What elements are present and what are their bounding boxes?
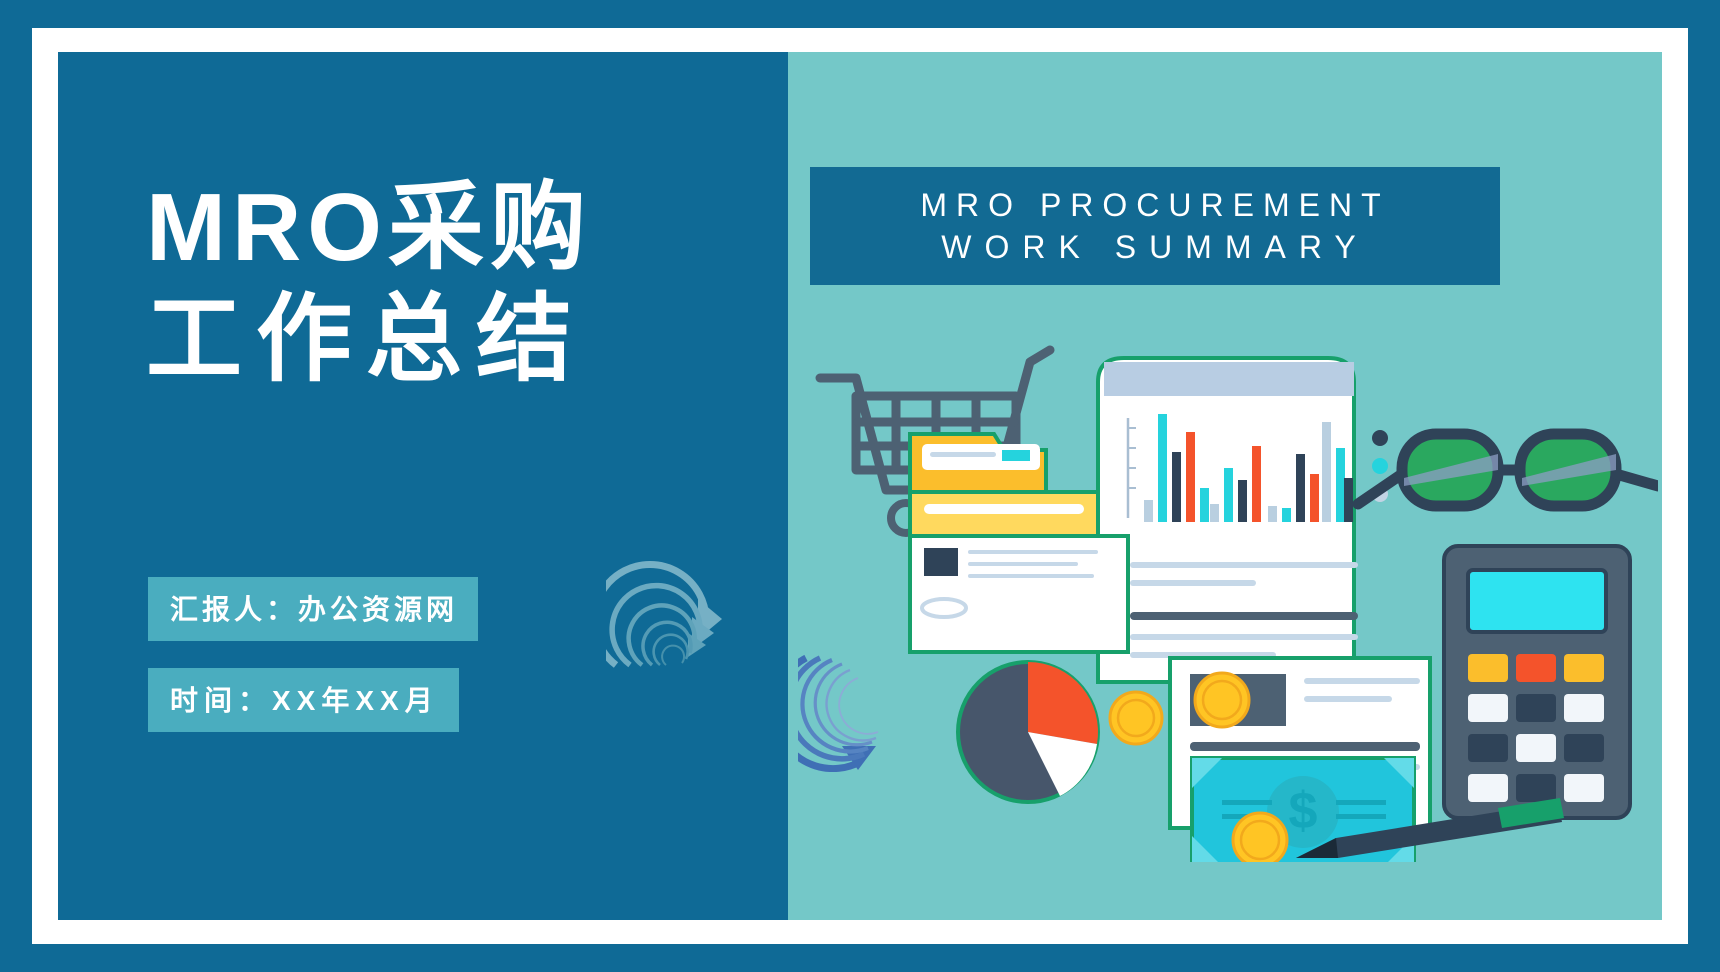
calculator-icon — [1444, 546, 1630, 818]
date-chip: 时间：XX年XX月 — [148, 668, 459, 732]
left-title-panel: MRO采购 工作总结 汇报人：办公资源网 时间：XX年XX月 — [58, 52, 788, 920]
meta-block: 汇报人：办公资源网 时间：XX年XX月 — [148, 577, 478, 759]
eyeglasses-icon — [1358, 434, 1658, 506]
title-line-1: MRO采购 — [146, 172, 766, 284]
business-procurement-illustration: $ — [798, 322, 1658, 862]
english-subtitle-box: MRO PROCUREMENT WORK SUMMARY — [810, 167, 1500, 285]
english-subtitle-line-1: MRO PROCUREMENT — [920, 184, 1389, 226]
legend-dot — [1372, 458, 1388, 474]
slide-content-area: MRO采购 工作总结 汇报人：办公资源网 时间：XX年XX月 — [58, 52, 1662, 920]
title-line-2: 工作总结 — [146, 284, 766, 396]
right-illustration-panel: MRO PROCUREMENT WORK SUMMARY — [788, 52, 1662, 920]
presenter-chip: 汇报人：办公资源网 — [148, 577, 478, 641]
pie-chart-icon — [958, 662, 1098, 802]
svg-text:$: $ — [1289, 782, 1318, 840]
presentation-slide: MRO采购 工作总结 汇报人：办公资源网 时间：XX年XX月 — [0, 0, 1720, 972]
spiral-arrow-icon — [606, 547, 736, 677]
english-subtitle-line-2: WORK SUMMARY — [941, 226, 1368, 268]
main-title: MRO采购 工作总结 — [146, 172, 766, 396]
file-folder-icon — [910, 434, 1128, 652]
legend-dot — [1372, 430, 1388, 446]
